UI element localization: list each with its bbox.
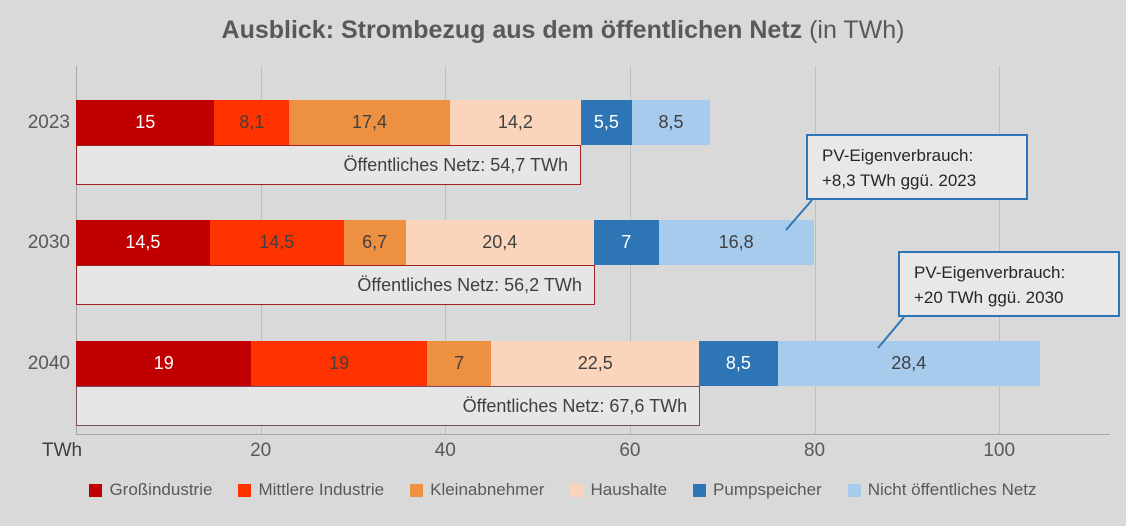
legend-label: Mittlere Industrie <box>258 480 384 500</box>
legend-swatch-icon <box>570 484 583 497</box>
bar-segment-2023-mittlere-industrie[interactable]: 8,1 <box>214 100 289 145</box>
bar-segment-2040-nicht-ffentliches-netz[interactable]: 28,4 <box>778 341 1040 386</box>
x-tick-20: 20 <box>231 440 291 462</box>
legend-swatch-icon <box>410 484 423 497</box>
bar-segment-2030-pumpspeicher[interactable]: 7 <box>594 220 659 265</box>
x-tick-60: 60 <box>600 440 660 462</box>
legend-item-nicht-ffentliches-netz[interactable]: Nicht öffentliches Netz <box>848 480 1037 500</box>
x-tick-40: 40 <box>415 440 475 462</box>
bar-segment-2023-pumpspeicher[interactable]: 5,5 <box>581 100 632 145</box>
bar-segment-2023-haushalte[interactable]: 14,2 <box>450 100 581 145</box>
legend-label: Pumpspeicher <box>713 480 822 500</box>
bar-segment-2030-kleinabnehmer[interactable]: 6,7 <box>344 220 406 265</box>
x-axis-unit-label: TWh <box>42 440 82 462</box>
public-grid-total-2023: Öffentliches Netz: 54,7 TWh <box>76 145 581 185</box>
bar-segment-2030-gro-industrie[interactable]: 14,5 <box>76 220 210 265</box>
callout-leader-line-1 <box>784 198 814 232</box>
bar-segment-2040-kleinabnehmer[interactable]: 7 <box>427 341 492 386</box>
chart-title-unit: (in TWh) <box>802 16 904 44</box>
legend-item-mittlere-industrie[interactable]: Mittlere Industrie <box>238 480 384 500</box>
chart-legend: GroßindustrieMittlere IndustrieKleinabne… <box>0 480 1126 500</box>
bar-segment-2030-mittlere-industrie[interactable]: 14,5 <box>210 220 344 265</box>
bar-segment-2023-kleinabnehmer[interactable]: 17,4 <box>289 100 450 145</box>
bar-2040: 1919722,58,528,4 <box>76 341 1110 386</box>
page-title: Ausblick: Strombezug aus dem öffentliche… <box>0 16 1126 45</box>
chart-title-main: Ausblick: Strombezug aus dem öffentliche… <box>222 16 803 44</box>
bar-segment-2040-mittlere-industrie[interactable]: 19 <box>251 341 426 386</box>
legend-label: Haushalte <box>590 480 667 500</box>
legend-label: Nicht öffentliches Netz <box>868 480 1037 500</box>
callout-line-2: +20 TWh ggü. 2030 <box>914 286 1104 311</box>
x-axis-line <box>76 434 1110 435</box>
legend-swatch-icon <box>89 484 102 497</box>
x-tick-100: 100 <box>969 440 1029 462</box>
legend-item-gro-industrie[interactable]: Großindustrie <box>89 480 212 500</box>
bar-segment-2023-nicht-ffentliches-netz[interactable]: 8,5 <box>632 100 710 145</box>
bar-segment-2040-haushalte[interactable]: 22,5 <box>491 341 699 386</box>
legend-item-haushalte[interactable]: Haushalte <box>570 480 667 500</box>
public-grid-total-2040: Öffentliches Netz: 67,6 TWh <box>76 386 700 426</box>
x-tick-80: 80 <box>785 440 845 462</box>
bar-segment-2030-haushalte[interactable]: 20,4 <box>406 220 594 265</box>
category-label-2023: 2023 <box>8 112 70 134</box>
bar-segment-2040-pumpspeicher[interactable]: 8,5 <box>699 341 777 386</box>
category-label-2030: 2030 <box>8 232 70 254</box>
callout-pv-eigenverbrauch-2: PV-Eigenverbrauch:+20 TWh ggü. 2030 <box>898 251 1120 317</box>
legend-item-kleinabnehmer[interactable]: Kleinabnehmer <box>410 480 544 500</box>
legend-item-pumpspeicher[interactable]: Pumpspeicher <box>693 480 822 500</box>
legend-label: Großindustrie <box>109 480 212 500</box>
callout-line-1: PV-Eigenverbrauch: <box>822 144 1012 169</box>
legend-swatch-icon <box>848 484 861 497</box>
category-label-2040: 2040 <box>8 353 70 375</box>
public-grid-total-2030: Öffentliches Netz: 56,2 TWh <box>76 265 595 305</box>
callout-pv-eigenverbrauch-1: PV-Eigenverbrauch:+8,3 TWh ggü. 2023 <box>806 134 1028 200</box>
callout-line-2: +8,3 TWh ggü. 2023 <box>822 169 1012 194</box>
callout-leader-line-2 <box>876 315 906 350</box>
bar-segment-2023-gro-industrie[interactable]: 15 <box>76 100 214 145</box>
chart-plot-area: 158,117,414,25,58,514,514,56,720,4716,81… <box>76 66 1110 434</box>
legend-swatch-icon <box>238 484 251 497</box>
callout-line-1: PV-Eigenverbrauch: <box>914 261 1104 286</box>
bar-segment-2040-gro-industrie[interactable]: 19 <box>76 341 251 386</box>
legend-label: Kleinabnehmer <box>430 480 544 500</box>
legend-swatch-icon <box>693 484 706 497</box>
